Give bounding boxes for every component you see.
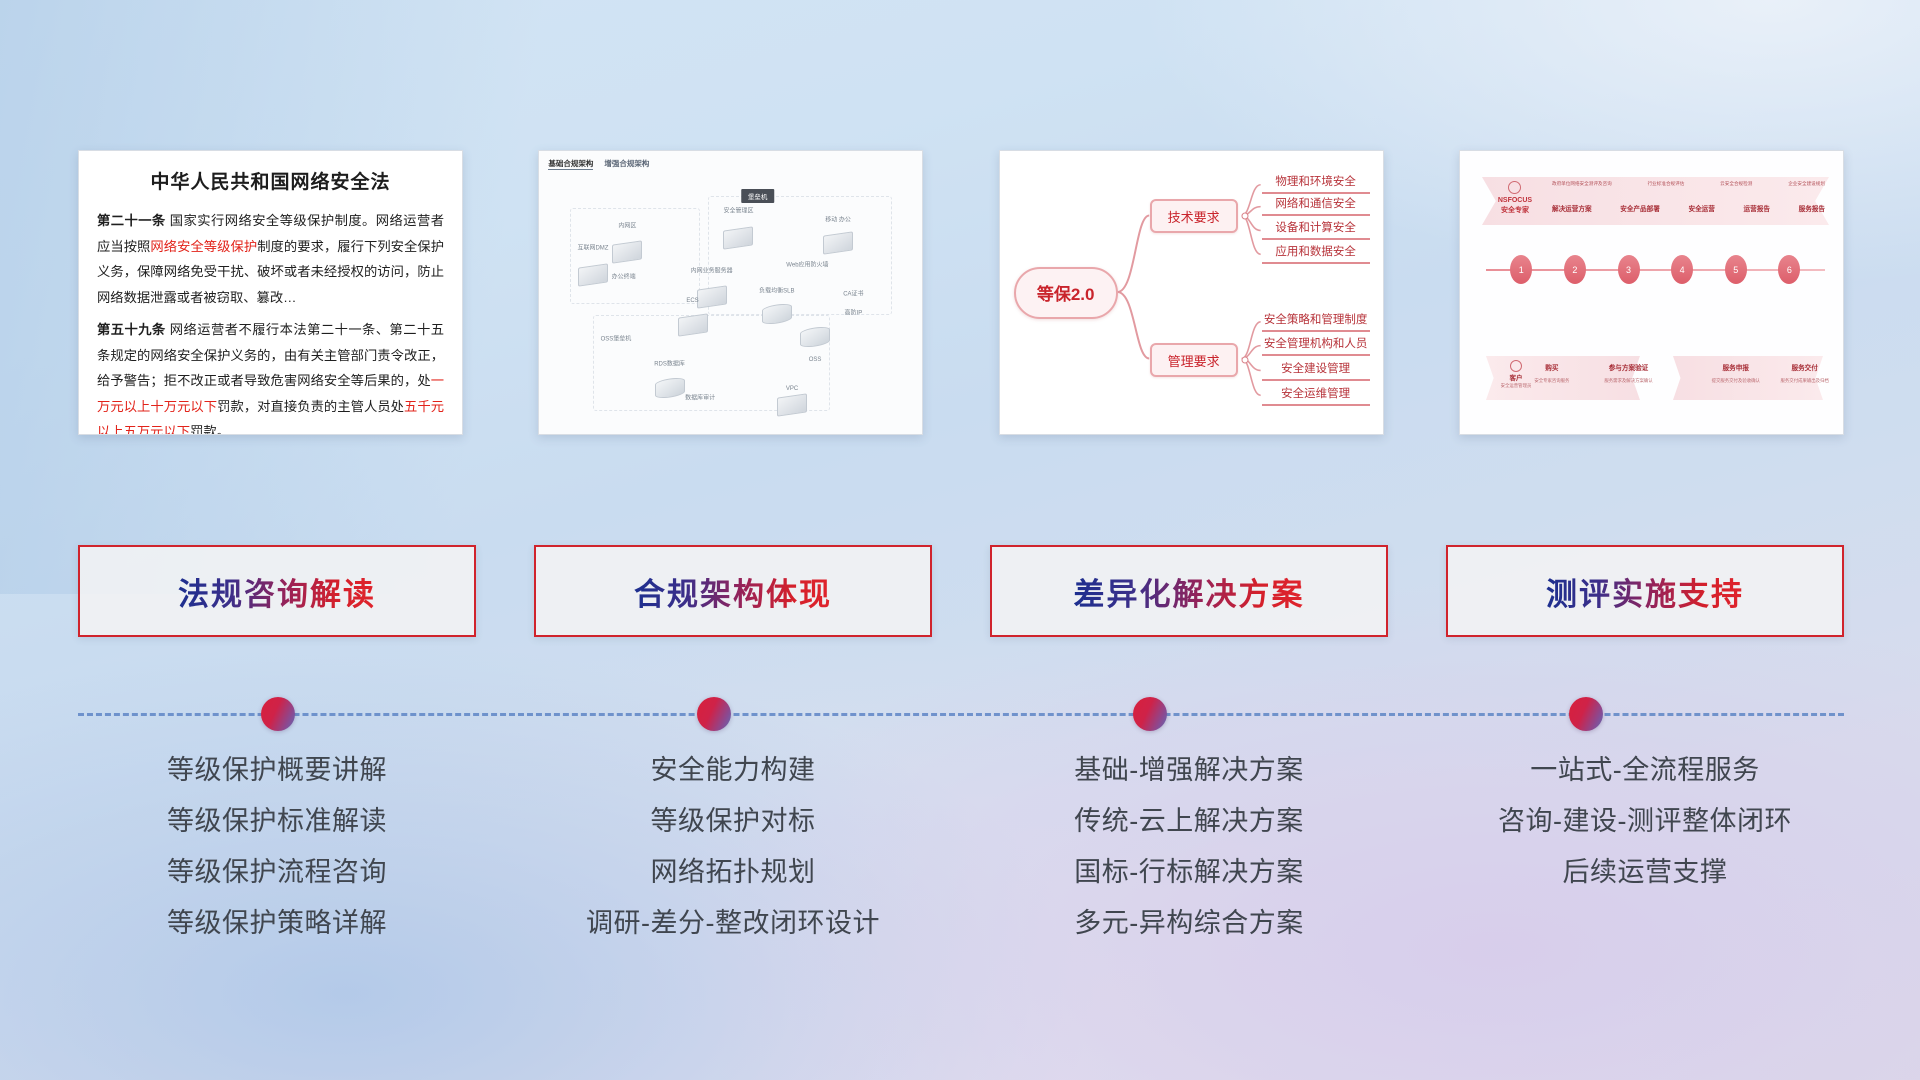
nsfocus-bottom-sub: 安全专家咨询服务 — [1534, 378, 1569, 384]
mindmap-leaf-mgmt-0: 安全策略和管理制度 — [1262, 311, 1370, 332]
nsfocus-brand-block: NSFOCUS 安全专家 — [1486, 181, 1544, 216]
database-icon — [655, 376, 685, 399]
nsfocus-step-5[interactable]: 5 — [1725, 255, 1747, 284]
architecture-label: 安全管理区 — [723, 206, 753, 215]
timeline-dot-2[interactable] — [1133, 697, 1167, 731]
mindmap-leaf-mgmt-2: 安全建设管理 — [1262, 360, 1370, 381]
heading-box-assessment-support[interactable]: 测评实施支持 — [1446, 545, 1844, 637]
nsfocus-mid-item: 运营报告 — [1744, 203, 1770, 213]
architecture-node-4 — [697, 288, 727, 309]
list-item: 等级保护概要讲解 — [78, 745, 476, 796]
list-item: 调研-差分-整改闭环设计 — [534, 898, 932, 949]
nsfocus-mid-item: 解决运营方案 — [1552, 203, 1592, 213]
mindmap-collapse-dot-management[interactable] — [1241, 357, 1248, 364]
nsfocus-bottom-label: 参与方案验证 — [1609, 362, 1649, 372]
detail-list-2: 基础-增强解决方案传统-云上解决方案国标-行标解决方案多元-异构综合方案 — [990, 745, 1388, 949]
slide-stage: 中华人民共和国网络安全法 第二十一条 国家实行网络安全等级保护制度。网络运营者应… — [0, 0, 1920, 1080]
heading-label-2: 差异化解决方案 — [1074, 569, 1305, 614]
server-icon — [823, 232, 853, 255]
law-article-21-label: 第二十一条 — [97, 213, 166, 228]
database-icon — [762, 303, 792, 326]
architecture-node-7 — [800, 327, 830, 348]
architecture-label: 移动 办公 — [825, 214, 851, 223]
nsfocus-bottom-sub: 提交服务交付及验收确认 — [1712, 378, 1760, 384]
nsfocus-bottom-label: 购买 — [1545, 362, 1558, 372]
list-item: 传统-云上解决方案 — [990, 796, 1388, 847]
nsfocus-top-small-text: 政府单位网络安全测评及咨询行业标准合规评估云安全合规检测企业安全建设规划 — [1552, 181, 1825, 187]
architecture-label: 负载均衡SLB — [759, 285, 794, 294]
mindmap-leaf-tech-2: 设备和计算安全 — [1262, 219, 1370, 240]
card-cybersecurity-law[interactable]: 中华人民共和国网络安全法 第二十一条 国家实行网络安全等级保护制度。网络运营者应… — [78, 150, 463, 435]
architecture-node-5 — [762, 305, 792, 326]
list-item: 等级保护策略详解 — [78, 898, 476, 949]
mindmap-diagram: 等保2.0 技术要求 物理和环境安全 网络和通信安全 设备和计算安全 应用和数据… — [1000, 151, 1383, 434]
nsfocus-step-2[interactable]: 2 — [1564, 255, 1586, 284]
architecture-node-8 — [655, 378, 685, 399]
mindmap-branch-management: 管理要求 — [1150, 343, 1238, 377]
architecture-label: OSS — [809, 357, 822, 363]
architecture-label: OSS堡垒机 — [601, 333, 632, 342]
list-item: 国标-行标解决方案 — [990, 847, 1388, 898]
heading-box-row: 法规咨询解读 合规架构体现 差异化解决方案 测评实施支持 — [78, 545, 1844, 637]
architecture-label: 办公终端 — [612, 271, 636, 280]
architecture-node-6 — [678, 316, 708, 337]
architecture-label: VPC — [786, 386, 798, 392]
nsfocus-mid-item: 服务报告 — [1799, 203, 1825, 213]
list-item: 网络拓扑规划 — [534, 847, 932, 898]
architecture-tabs: 基础合规架构 增强合规架构 — [548, 158, 649, 170]
nsfocus-bottom-sub: 服务交付成果输出及归档 — [1781, 378, 1829, 384]
detail-list-row: 等级保护概要讲解等级保护标准解读等级保护流程咨询等级保护策略详解 安全能力构建等… — [78, 745, 1844, 949]
architecture-diagram: 基础合规架构 增强合规架构 堡垒机 内网区安全管理区移动 办公互联网DMZWeb… — [539, 151, 922, 434]
list-item: 等级保护对标 — [534, 796, 932, 847]
nsfocus-mid-item: 安全产品部署 — [1620, 203, 1660, 213]
architecture-label: 内网业务服务器 — [691, 265, 733, 274]
user-person-icon — [1510, 360, 1522, 372]
law-article-59-label: 第五十九条 — [97, 322, 166, 337]
card-dengbao-mindmap[interactable]: 等保2.0 技术要求 物理和环境安全 网络和通信安全 设备和计算安全 应用和数据… — [999, 150, 1384, 435]
architecture-label: ECS — [686, 298, 698, 304]
mindmap-leaf-mgmt-3: 安全运维管理 — [1262, 385, 1370, 406]
architecture-chip-bastion: 堡垒机 — [741, 189, 775, 203]
architecture-node-2 — [823, 234, 853, 255]
mindmap-branch-technical: 技术要求 — [1150, 199, 1238, 233]
nsfocus-mid-bold-text: 解决运营方案安全产品部署安全运营运营报告服务报告 — [1552, 203, 1825, 213]
law-article-59-text-b: 罚款，对直接负责的主管人员处 — [217, 399, 404, 414]
architecture-label: RDS数据库 — [654, 359, 685, 368]
architecture-node-3 — [578, 265, 608, 286]
mindmap-leaf-tech-3: 应用和数据安全 — [1262, 243, 1370, 264]
law-article-21-highlight: 网络安全等级保护 — [150, 239, 257, 254]
heading-label-3: 测评实施支持 — [1546, 569, 1744, 614]
detail-list-3: 一站式-全流程服务咨询-建设-测评整体闭环后续运营支撑 — [1446, 745, 1844, 949]
nsfocus-top-item: 云安全合规检测 — [1720, 181, 1752, 187]
heading-box-regulation-consulting[interactable]: 法规咨询解读 — [78, 545, 476, 637]
nsfocus-brand-label: NSFOCUS 安全专家 — [1486, 196, 1544, 216]
mindmap-leaf-tech-1: 网络和通信安全 — [1262, 195, 1370, 216]
nsfocus-step-3[interactable]: 3 — [1618, 255, 1640, 284]
list-item: 等级保护流程咨询 — [78, 847, 476, 898]
architecture-label: CA证书 — [843, 288, 863, 297]
nsfocus-step-6[interactable]: 6 — [1778, 255, 1800, 284]
architecture-node-9 — [777, 395, 807, 416]
nsfocus-user-sub: 安全运营管理员 — [1488, 383, 1544, 390]
architecture-node-1 — [723, 228, 753, 249]
heading-label-0: 法规咨询解读 — [178, 569, 376, 614]
card-compliance-architecture[interactable]: 基础合规架构 增强合规架构 堡垒机 内网区安全管理区移动 办公互联网DMZWeb… — [538, 150, 923, 435]
expert-person-icon — [1508, 181, 1521, 194]
nsfocus-timeline-rail — [1486, 269, 1825, 271]
nsfocus-mid-item: 安全运营 — [1688, 203, 1714, 213]
list-item: 多元-异构综合方案 — [990, 898, 1388, 949]
timeline-dot-1[interactable] — [697, 697, 731, 731]
thumbnail-card-row: 中华人民共和国网络安全法 第二十一条 国家实行网络安全等级保护制度。网络运营者应… — [78, 150, 1844, 435]
timeline — [78, 694, 1844, 734]
detail-list-1: 安全能力构建等级保护对标网络拓扑规划调研-差分-整改闭环设计 — [534, 745, 932, 949]
list-item: 等级保护标准解读 — [78, 796, 476, 847]
mindmap-leaf-tech-0: 物理和环境安全 — [1262, 173, 1370, 194]
heading-label-1: 合规架构体现 — [634, 569, 832, 614]
server-icon — [777, 393, 807, 416]
nsfocus-user-block: 客户 安全运营管理员 — [1488, 360, 1544, 390]
detail-list-0: 等级保护概要讲解等级保护标准解读等级保护流程咨询等级保护策略详解 — [78, 745, 476, 949]
law-article-59: 第五十九条 网络运营者不履行本法第二十一条、第二十五条规定的网络安全保护义务的，… — [97, 317, 444, 435]
server-icon — [678, 314, 708, 337]
nsfocus-top-item: 行业标准合规评估 — [1648, 181, 1685, 187]
list-item: 安全能力构建 — [534, 745, 932, 796]
nsfocus-step-1[interactable]: 1 — [1510, 255, 1532, 284]
architecture-label: 高防IP — [845, 308, 863, 317]
nsfocus-bottom-label: 服务交付 — [1791, 362, 1817, 372]
list-item: 后续运营支撑 — [1446, 847, 1844, 898]
list-item: 基础-增强解决方案 — [990, 745, 1388, 796]
architecture-label: 内网区 — [618, 220, 636, 229]
heading-box-compliance-architecture[interactable]: 合规架构体现 — [534, 545, 932, 637]
architecture-label: Web应用防火墙 — [786, 260, 828, 269]
nsfocus-bottom-sub: 服务需求及解决方案确认 — [1604, 378, 1652, 384]
law-title: 中华人民共和国网络安全法 — [97, 167, 444, 194]
tab-basic-architecture[interactable]: 基础合规架构 — [548, 158, 593, 170]
database-icon — [800, 325, 830, 348]
mindmap-collapse-dot-technical[interactable] — [1241, 213, 1248, 220]
law-text-block: 中华人民共和国网络安全法 第二十一条 国家实行网络安全等级保护制度。网络运营者应… — [79, 151, 462, 434]
nsfocus-top-item: 政府单位网络安全测评及咨询 — [1552, 181, 1612, 187]
architecture-label: 数据库审计 — [685, 393, 715, 402]
law-article-59-text-c: 罚款。 — [190, 424, 230, 435]
server-icon — [578, 263, 608, 286]
heading-box-differentiated-solution[interactable]: 差异化解决方案 — [990, 545, 1388, 637]
nsfocus-step-4[interactable]: 4 — [1671, 255, 1693, 284]
nsfocus-diagram: NSFOCUS 安全专家 政府单位网络安全测评及咨询行业标准合规评估云安全合规检… — [1460, 151, 1843, 434]
law-article-21: 第二十一条 国家实行网络安全等级保护制度。网络运营者应当按照网络安全等级保护制度… — [97, 208, 444, 310]
server-icon — [697, 286, 727, 309]
architecture-label: 互联网DMZ — [577, 243, 608, 252]
card-nsfocus-service-flow[interactable]: NSFOCUS 安全专家 政府单位网络安全测评及咨询行业标准合规评估云安全合规检… — [1459, 150, 1844, 435]
timeline-dot-3[interactable] — [1569, 697, 1603, 731]
nsfocus-bottom-label: 服务申报 — [1723, 362, 1749, 372]
mindmap-leaf-mgmt-1: 安全管理机构和人员 — [1262, 335, 1370, 356]
mindmap-root-node: 等保2.0 — [1014, 267, 1118, 319]
list-item: 一站式-全流程服务 — [1446, 745, 1844, 796]
list-item: 咨询-建设-测评整体闭环 — [1446, 796, 1844, 847]
server-icon — [723, 226, 753, 249]
architecture-node-0 — [612, 242, 642, 263]
server-icon — [612, 240, 642, 263]
timeline-dot-0[interactable] — [261, 697, 295, 731]
tab-enhanced-architecture[interactable]: 增强合规架构 — [604, 158, 649, 170]
nsfocus-top-item: 企业安全建设规划 — [1788, 181, 1825, 187]
